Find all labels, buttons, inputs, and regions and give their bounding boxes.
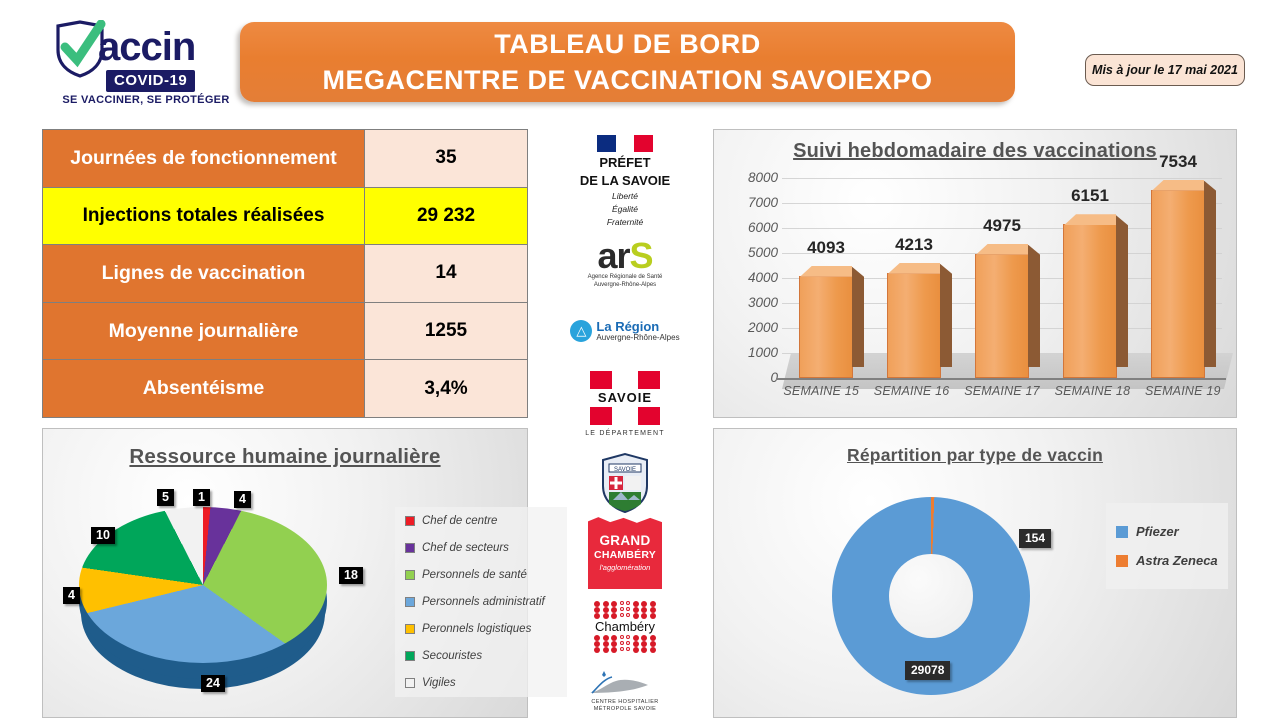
gc-line1: GRAND <box>600 533 651 549</box>
legend-item: Chef de centre <box>405 515 561 527</box>
ars-s: S <box>630 235 653 276</box>
x-axis-labels: SEMAINE 15SEMAINE 16SEMAINE 17SEMAINE 18… <box>776 384 1228 398</box>
savoie-square <box>590 407 612 425</box>
kpi-label: Absentéisme <box>43 360 365 417</box>
kpi-value: 14 <box>365 245 527 302</box>
hospital-line2: MÉTROPOLE SAVOIE <box>594 706 657 713</box>
savoie-wordmark: SAVOIE <box>590 389 660 407</box>
legend-label: Astra Zeneca <box>1136 553 1218 568</box>
x-axis-label: SEMAINE 16 <box>866 384 956 398</box>
y-axis-tick: 7000 <box>722 195 778 210</box>
kpi-table: Journées de fonctionnement 35 Injections… <box>42 129 528 418</box>
legend-swatch <box>405 570 415 580</box>
table-row: Injections totales réalisées 29 232 <box>43 188 527 246</box>
legend-label: Vigiles <box>422 677 456 689</box>
la-region-logo: △ La Région Auvergne-Rhône-Alpes <box>556 301 694 362</box>
table-row: Journées de fonctionnement 35 <box>43 130 527 188</box>
y-axis-tick: 5000 <box>722 245 778 260</box>
weekly-vaccinations-chart: Suivi hebdomadaire des vaccinations 8000… <box>713 129 1237 418</box>
legend-swatch <box>1116 526 1128 538</box>
x-axis-label: SEMAINE 18 <box>1047 384 1137 398</box>
legend-swatch <box>405 624 415 634</box>
table-row: Moyenne journalière 1255 <box>43 303 527 361</box>
legend-item: Peronnels logistiques <box>405 623 561 635</box>
chambery-wordmark: Chambéry <box>585 619 665 635</box>
legend-swatch <box>405 651 415 661</box>
pie-value-label: 18 <box>339 567 363 584</box>
savoie-square <box>638 407 660 425</box>
centre-hospitalier-logo: CENTRE HOSPITALIER MÉTROPOLE SAVOIE <box>556 664 694 718</box>
region-line2: Auvergne-Rhône-Alpes <box>596 333 679 343</box>
y-axis-tick: 0 <box>722 370 778 385</box>
bar-side-face <box>852 267 864 367</box>
donut-legend: PfiezerAstra Zeneca <box>1106 503 1228 589</box>
table-row: Lignes de vaccination 14 <box>43 245 527 303</box>
x-axis-line <box>776 378 1226 380</box>
prefet-motto1: Liberté <box>612 191 638 201</box>
kpi-value: 35 <box>365 130 527 187</box>
legend-label: Personnels administratif <box>422 596 545 608</box>
table-row: Absentéisme 3,4% <box>43 360 527 417</box>
x-axis-label: SEMAINE 17 <box>957 384 1047 398</box>
prefet-line1: PRÉFET <box>599 155 650 170</box>
prefet-de-la-savoie-logo: PRÉFET DE LA SAVOIE Liberté Égalité Frat… <box>556 129 694 227</box>
pie-surface <box>79 507 327 663</box>
bar-value-label: 7534 <box>1138 152 1218 172</box>
kpi-value: 1255 <box>365 303 527 360</box>
pie-value-label: 5 <box>157 489 174 506</box>
logo-covid-badge: COVID-19 <box>106 70 195 92</box>
prefet-motto2: Égalité <box>612 204 638 214</box>
hospital-mark-icon <box>582 669 668 699</box>
donut-label-pfiezer: 29078 <box>905 661 950 680</box>
page-title-line1: TABLEAU DE BORD <box>494 26 761 62</box>
legend-label: Personnels de santé <box>422 569 527 581</box>
bar <box>975 254 1029 378</box>
legend-label: Pfiezer <box>1136 524 1179 539</box>
hospital-line1: CENTRE HOSPITALIER <box>591 699 658 706</box>
legend-label: Secouristes <box>422 650 482 662</box>
vaccin-covid19-logo: accin COVID-19 SE VACCINER, SE PROTÉGER <box>46 18 246 110</box>
legend-item: Astra Zeneca <box>1116 553 1228 568</box>
page-title-line2: MEGACENTRE DE VACCINATION SAVOIEXPO <box>322 62 932 98</box>
x-axis-label: SEMAINE 15 <box>776 384 866 398</box>
legend-label: Peronnels logistiques <box>422 623 531 635</box>
bar-top-face <box>800 266 852 277</box>
bar-top-face <box>888 263 940 274</box>
ars-wordmark: arS <box>597 239 652 273</box>
bar-plot-area: 800070006000500040003000200010000 409342… <box>714 168 1238 419</box>
legend-item: Vigiles <box>405 677 561 689</box>
kpi-value: 3,4% <box>365 360 527 417</box>
region-line1: La Région <box>596 320 679 333</box>
bar-value-label: 4093 <box>786 238 866 258</box>
last-updated-badge: Mis à jour le 17 mai 2021 <box>1085 54 1245 86</box>
y-axis-tick: 2000 <box>722 320 778 335</box>
mountain-icon: △ <box>570 320 592 342</box>
grand-chambery-logo: GRAND CHAMBÉRY l'agglomération <box>556 516 694 590</box>
logo-wordmark: accin <box>98 24 195 70</box>
ars-sub2: Auvergne-Rhône-Alpes <box>594 281 656 289</box>
bar-side-face <box>1204 181 1216 367</box>
legend-swatch <box>405 678 415 688</box>
ars-sub1: Agence Régionale de Santé <box>588 273 663 281</box>
y-axis-tick: 1000 <box>722 345 778 360</box>
gc-line3: l'agglomération <box>600 562 651 573</box>
x-axis-label: SEMAINE 19 <box>1138 384 1228 398</box>
bar-top-face <box>976 244 1028 255</box>
donut-hole <box>889 554 973 638</box>
bar-top-face <box>1064 214 1116 225</box>
pie-3d-body <box>79 497 327 687</box>
daily-human-resources-chart: Ressource humaine journalière 1418244105… <box>42 428 528 718</box>
dashboard-title-banner: TABLEAU DE BORD MEGACENTRE DE VACCINATIO… <box>240 22 1015 102</box>
chart-title: Ressource humaine journalière <box>43 429 527 469</box>
bar-value-label: 6151 <box>1050 186 1130 206</box>
y-axis-tick: 6000 <box>722 220 778 235</box>
kpi-label: Journées de fonctionnement <box>43 130 365 187</box>
legend-swatch <box>405 516 415 526</box>
bar-side-face <box>1116 215 1128 367</box>
legend-item: Pfiezer <box>1116 524 1228 539</box>
donut-label-astra: 154 <box>1019 529 1051 548</box>
y-axis-tick: 4000 <box>722 270 778 285</box>
kpi-label: Lignes de vaccination <box>43 245 365 302</box>
legend-swatch <box>1116 555 1128 567</box>
gc-line2: CHAMBÉRY <box>594 549 656 562</box>
bar <box>1151 190 1205 378</box>
savoie-square <box>590 371 612 389</box>
pie-value-label: 10 <box>91 527 115 544</box>
pie-value-label: 4 <box>63 587 80 604</box>
savoie-caption: LE DÉPARTEMENT <box>585 430 665 437</box>
ars-ar: ar <box>597 235 629 276</box>
coat-of-arms-icon: SAVOIE <box>595 446 655 516</box>
legend-item: Personnels administratif <box>405 596 561 608</box>
legend-swatch <box>405 543 415 553</box>
kpi-label: Moyenne journalière <box>43 303 365 360</box>
french-flag-icon <box>597 135 653 152</box>
legend-item: Chef de secteurs <box>405 542 561 554</box>
pie-value-label: 1 <box>193 489 210 506</box>
legend-label: Chef de centre <box>422 515 497 527</box>
kpi-value: 29 232 <box>365 188 527 245</box>
legend-swatch <box>405 597 415 607</box>
partner-logo-column: PRÉFET DE LA SAVOIE Liberté Égalité Frat… <box>556 129 694 718</box>
chambery-logo: Chambéry <box>556 590 694 664</box>
bar-value-label: 4975 <box>962 216 1042 236</box>
dot-row <box>585 647 665 653</box>
bar-top-face <box>1152 180 1204 191</box>
pie-plot-area: 1418244105 <box>51 479 351 715</box>
legend-item: Personnels de santé <box>405 569 561 581</box>
bar-side-face <box>940 264 952 367</box>
kpi-label: Injections totales réalisées <box>43 188 365 245</box>
savoie-emblem-logo: SAVOIE <box>556 446 694 516</box>
dashboard-root: accin COVID-19 SE VACCINER, SE PROTÉGER … <box>0 0 1280 720</box>
prefet-motto3: Fraternité <box>607 217 643 227</box>
pie-legend: Chef de centreChef de secteursPersonnels… <box>395 507 567 697</box>
svg-text:SAVOIE: SAVOIE <box>614 467 636 473</box>
pie-value-label: 24 <box>201 675 225 692</box>
bar <box>887 273 941 378</box>
bar <box>1063 224 1117 378</box>
chart-title: Répartition par type de vaccin <box>714 429 1236 466</box>
legend-label: Chef de secteurs <box>422 542 509 554</box>
y-axis-tick: 8000 <box>722 170 778 185</box>
legend-item: Secouristes <box>405 650 561 662</box>
prefet-line2: DE LA SAVOIE <box>580 173 670 188</box>
bar-series: 40934213497561517534 <box>782 178 1222 378</box>
y-axis: 800070006000500040003000200010000 <box>722 178 778 378</box>
savoie-square <box>638 371 660 389</box>
bar <box>799 276 853 378</box>
ars-logo: arS Agence Régionale de Santé Auvergne-R… <box>556 227 694 301</box>
vaccine-type-chart: Répartition par type de vaccin 154 29078… <box>713 428 1237 718</box>
bar-value-label: 4213 <box>874 235 954 255</box>
y-axis-tick: 3000 <box>722 295 778 310</box>
pie-value-label: 4 <box>234 491 251 508</box>
bar-side-face <box>1028 245 1040 367</box>
logo-tagline: SE VACCINER, SE PROTÉGER <box>46 94 246 106</box>
savoie-departement-logo: SAVOIE LE DÉPARTEMENT <box>556 362 694 446</box>
